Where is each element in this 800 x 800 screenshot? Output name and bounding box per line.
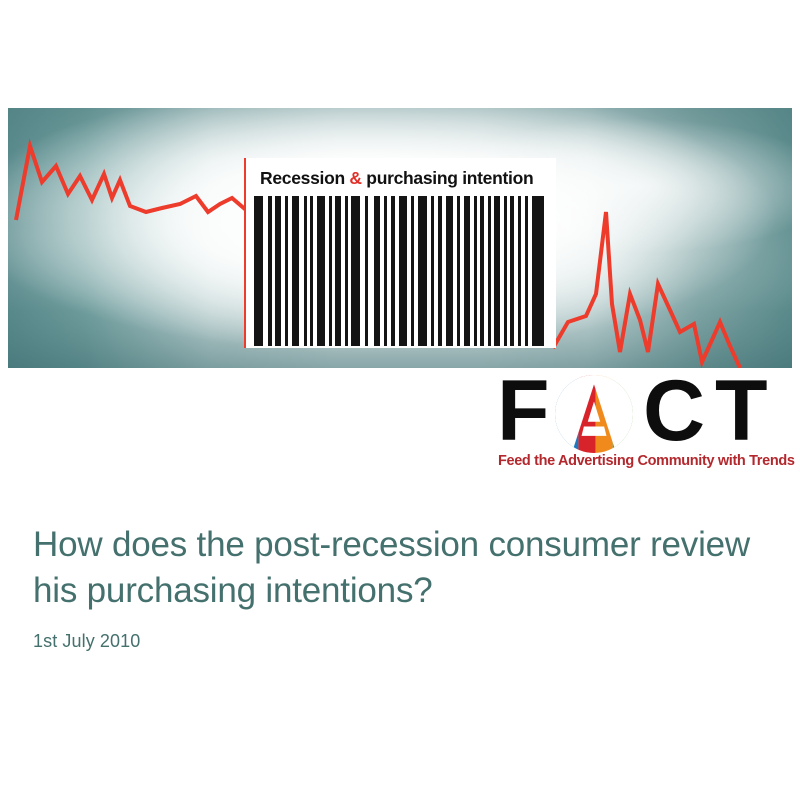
logo-letter-f: F bbox=[497, 371, 549, 451]
slide-date: 1st July 2010 bbox=[33, 630, 763, 652]
barcode-label-prefix: Recession bbox=[260, 168, 349, 188]
barcode-graphic: Recession & purchasing intention bbox=[246, 158, 556, 348]
logo-wheel-svg bbox=[555, 375, 633, 453]
barcode-label-text: Recession & purchasing intention bbox=[260, 165, 542, 191]
barcode-label-suffix: purchasing intention bbox=[362, 168, 534, 188]
logo-letter-t: T bbox=[715, 371, 767, 451]
presentation-slide: Recession & purchasing intention bbox=[0, 0, 800, 800]
page-title: How does the post-recession consumer rev… bbox=[33, 522, 763, 614]
banner-image: Recession & purchasing intention bbox=[8, 108, 792, 368]
barcode-bars-svg bbox=[246, 196, 556, 346]
logo-letter-a-wheel-icon bbox=[555, 375, 633, 453]
barcode-bars bbox=[246, 196, 556, 346]
fact-wordmark: F bbox=[497, 371, 789, 451]
logo-tagline: Feed the Advertising Community with Tren… bbox=[498, 453, 790, 469]
title-block: How does the post-recession consumer rev… bbox=[33, 522, 763, 652]
logo-letter-c: C bbox=[643, 371, 704, 451]
fact-logo: F bbox=[497, 371, 789, 475]
barcode-label-ampersand: & bbox=[349, 168, 361, 188]
